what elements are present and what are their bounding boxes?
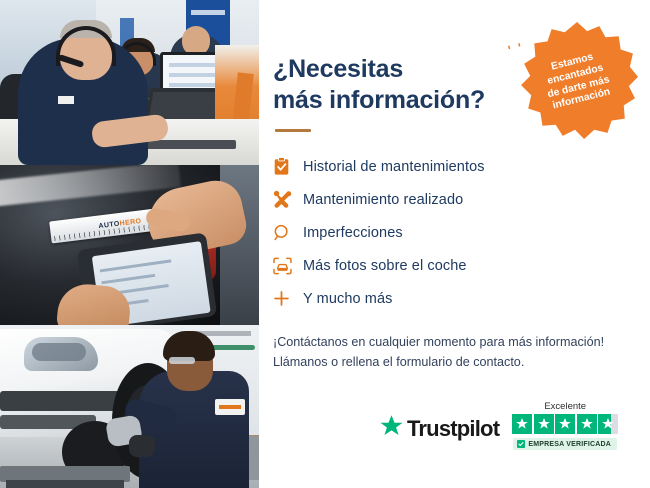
mechanic-uniform-patch (215, 399, 245, 415)
star-filled (512, 414, 532, 434)
list-item: Historial de mantenimientos (273, 150, 628, 183)
promo-badge: Estamos encantados de darte más informac… (516, 20, 638, 142)
tablet-line (101, 274, 155, 284)
trustpilot-star-icon (379, 414, 404, 444)
magnifier-icon (273, 224, 303, 242)
list-item: Imperfecciones (273, 216, 628, 249)
tools-cross-icon (273, 190, 303, 209)
safety-glasses (169, 357, 195, 364)
photo-mechanic-inspecting-wheel (0, 325, 259, 488)
car-lift-base (6, 480, 124, 488)
content-panel: ¿Necesitas más información? Esta (259, 0, 650, 488)
car-photo-frame-icon (273, 257, 303, 275)
star-filled (534, 414, 554, 434)
photo-call-center-agents-with-headsets (0, 0, 259, 165)
feature-label: Imperfecciones (303, 225, 403, 241)
list-item: Y mucho más (273, 282, 628, 315)
mechanic-tool (129, 435, 155, 457)
feature-label: Y mucho más (303, 291, 392, 307)
feature-list: Historial de mantenimientos Mantenimient… (273, 150, 628, 315)
clipboard-check-icon (273, 157, 303, 176)
trustpilot-wordmark: Trustpilot (407, 416, 499, 442)
feature-label: Más fotos sobre el coche (303, 258, 467, 274)
headlight-inner (32, 343, 86, 361)
check-square-icon (517, 440, 525, 448)
promo-card: AUTOHERO (0, 0, 650, 488)
photo-column: AUTOHERO (0, 0, 259, 488)
trustpilot-logo[interactable]: Trustpilot (379, 414, 499, 450)
feature-label: Historial de mantenimientos (303, 159, 485, 175)
car-grille-upper (0, 391, 120, 411)
star-rating (512, 414, 618, 434)
headline-line-1: ¿Necesitas (273, 55, 403, 83)
headline-line-2: más información? (273, 86, 485, 114)
trustpilot-rating: Excelente EMPRESA VERIFICADA (512, 401, 618, 450)
verified-label: EMPRESA VERIFICADA (528, 441, 611, 448)
verified-badge: EMPRESA VERIFICADA (513, 438, 617, 450)
star-partial (598, 414, 618, 434)
agent-name-badge (58, 96, 74, 104)
screen-row (169, 83, 219, 87)
tablet-line (100, 259, 172, 272)
star-filled (555, 414, 575, 434)
badge-text: Estamos encantados de darte más informac… (524, 46, 629, 118)
photo-autohero-ruler-inspection: AUTOHERO (0, 165, 259, 325)
contact-line-1: ¡Contáctanos en cualquier momento para m… (273, 332, 628, 352)
contact-text: ¡Contáctanos en cualquier momento para m… (273, 332, 628, 373)
list-item: Mantenimiento realizado (273, 183, 628, 216)
feature-label: Mantenimiento realizado (303, 192, 463, 208)
trustpilot-widget[interactable]: Trustpilot Excelente EMPRESA VERIFICADA (379, 401, 618, 450)
star-filled (577, 414, 597, 434)
title-underline (275, 129, 311, 132)
contact-line-2: Llámanos o rellena el formulario de cont… (273, 352, 628, 372)
rating-label: Excelente (544, 401, 586, 412)
list-item: Más fotos sobre el coche (273, 249, 628, 282)
plus-icon (273, 290, 303, 307)
